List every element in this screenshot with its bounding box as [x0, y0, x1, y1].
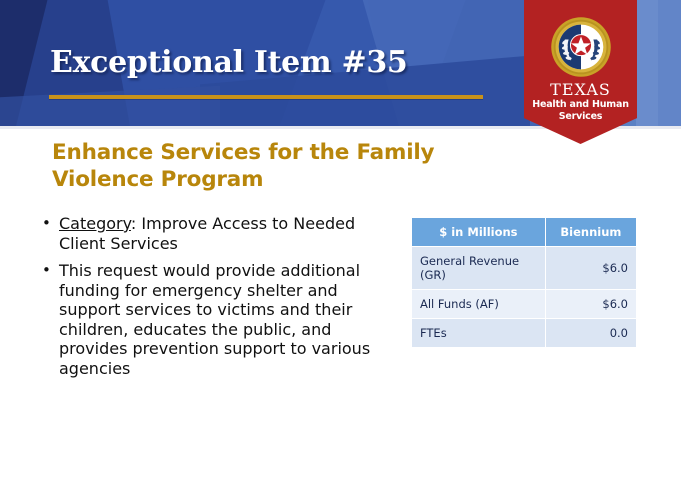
slide-subtitle: Enhance Services for the Family Violence…: [52, 139, 482, 193]
column-header-biennium: Biennium: [545, 218, 636, 247]
bullet-text: Category: Improve Access to Needed Clien…: [59, 214, 382, 253]
table-header-row: $ in Millions Biennium: [412, 218, 637, 247]
table-row: FTEs 0.0: [412, 319, 637, 348]
list-item: • This request would provide additional …: [42, 261, 382, 378]
bullet-list: • Category: Improve Access to Needed Cli…: [42, 214, 382, 386]
row-value: $6.0: [545, 290, 636, 319]
logo-state-name: TEXAS: [524, 80, 637, 99]
table-row: General Revenue (GR) $6.0: [412, 247, 637, 290]
banner-facet-right-light-2: [636, 0, 658, 129]
texas-state-seal-icon: [550, 16, 612, 78]
funding-summary-table: $ in Millions Biennium General Revenue (…: [411, 217, 637, 348]
bullet-text: This request would provide additional fu…: [59, 261, 382, 378]
row-label: FTEs: [412, 319, 546, 348]
row-value: $6.0: [545, 247, 636, 290]
banner-facet-right-light-3: [658, 0, 681, 129]
bullet-marker: •: [42, 261, 59, 378]
row-label: General Revenue (GR): [412, 247, 546, 290]
row-value: 0.0: [545, 319, 636, 348]
bullet-lead-underlined: Category: [59, 214, 131, 233]
list-item: • Category: Improve Access to Needed Cli…: [42, 214, 382, 253]
title-underline-rule: [49, 95, 483, 99]
page-title: Exceptional Item #35: [50, 45, 408, 80]
table-row: All Funds (AF) $6.0: [412, 290, 637, 319]
bullet-marker: •: [42, 214, 59, 253]
logo-agency-name: Health and Human Services: [524, 99, 637, 123]
texas-hhs-logo-banner: TEXAS Health and Human Services: [524, 0, 637, 144]
column-header-measure: $ in Millions: [412, 218, 546, 247]
row-label: All Funds (AF): [412, 290, 546, 319]
